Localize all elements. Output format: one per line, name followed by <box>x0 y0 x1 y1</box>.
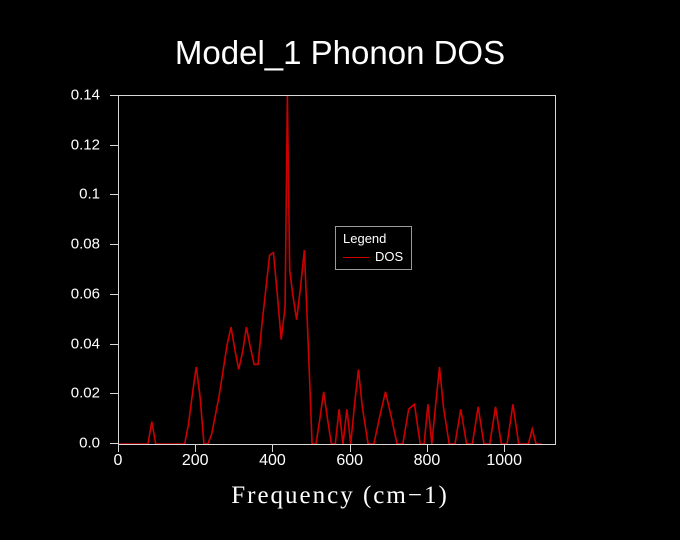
dos-series-line <box>119 96 542 444</box>
y-axis-tick-label: 0.06 <box>0 285 106 302</box>
y-axis-tick-label: 0.14 <box>0 87 106 104</box>
y-axis-tick-label: 0.02 <box>0 385 106 402</box>
x-axis-tick-label: 1000 <box>486 452 522 470</box>
y-axis-tick-mark <box>110 344 118 345</box>
x-axis-tick-mark <box>195 444 196 452</box>
x-axis-tick-mark <box>272 444 273 452</box>
y-axis-tick-label: 0.04 <box>0 335 106 352</box>
chart-legend: Legend DOS <box>335 226 412 270</box>
x-axis-tick-mark <box>118 444 119 452</box>
y-axis-tick-label: 0.08 <box>0 236 106 253</box>
dos-line-chart <box>119 96 555 444</box>
y-axis-tick-label: 0.0 <box>0 435 106 452</box>
y-axis-tick-mark <box>110 443 118 444</box>
legend-entry-dos: DOS <box>343 250 403 264</box>
legend-swatch-icon <box>343 257 369 258</box>
y-axis-tick-mark <box>110 194 118 195</box>
x-axis-tick-label: 200 <box>182 452 209 470</box>
x-axis-label: Frequency (cm−1) <box>0 482 680 510</box>
x-axis-tick-label: 400 <box>259 452 286 470</box>
x-axis-tick-mark <box>427 444 428 452</box>
y-axis-tick-mark <box>110 294 118 295</box>
y-axis-tick-mark <box>110 244 118 245</box>
y-axis-tick-mark <box>110 393 118 394</box>
x-axis-tick-mark <box>350 444 351 452</box>
x-axis-tick-mark <box>504 444 505 452</box>
y-axis-tick-mark <box>110 95 118 96</box>
legend-title: Legend <box>343 231 403 246</box>
x-axis-tick-label: 0 <box>114 452 123 470</box>
x-axis-tick-label: 800 <box>414 452 441 470</box>
y-axis-tick-mark <box>110 145 118 146</box>
x-axis-tick-label: 600 <box>336 452 363 470</box>
y-axis-tick-label: 0.1 <box>0 186 106 203</box>
y-axis-tick-label: 0.12 <box>0 136 106 153</box>
plot-area <box>118 95 556 445</box>
page-title: Model_1 Phonon DOS <box>0 34 680 72</box>
legend-entry-label: DOS <box>375 250 403 264</box>
chart-figure: Model_1 Phonon DOS 0.00.020.040.060.080.… <box>0 0 680 540</box>
